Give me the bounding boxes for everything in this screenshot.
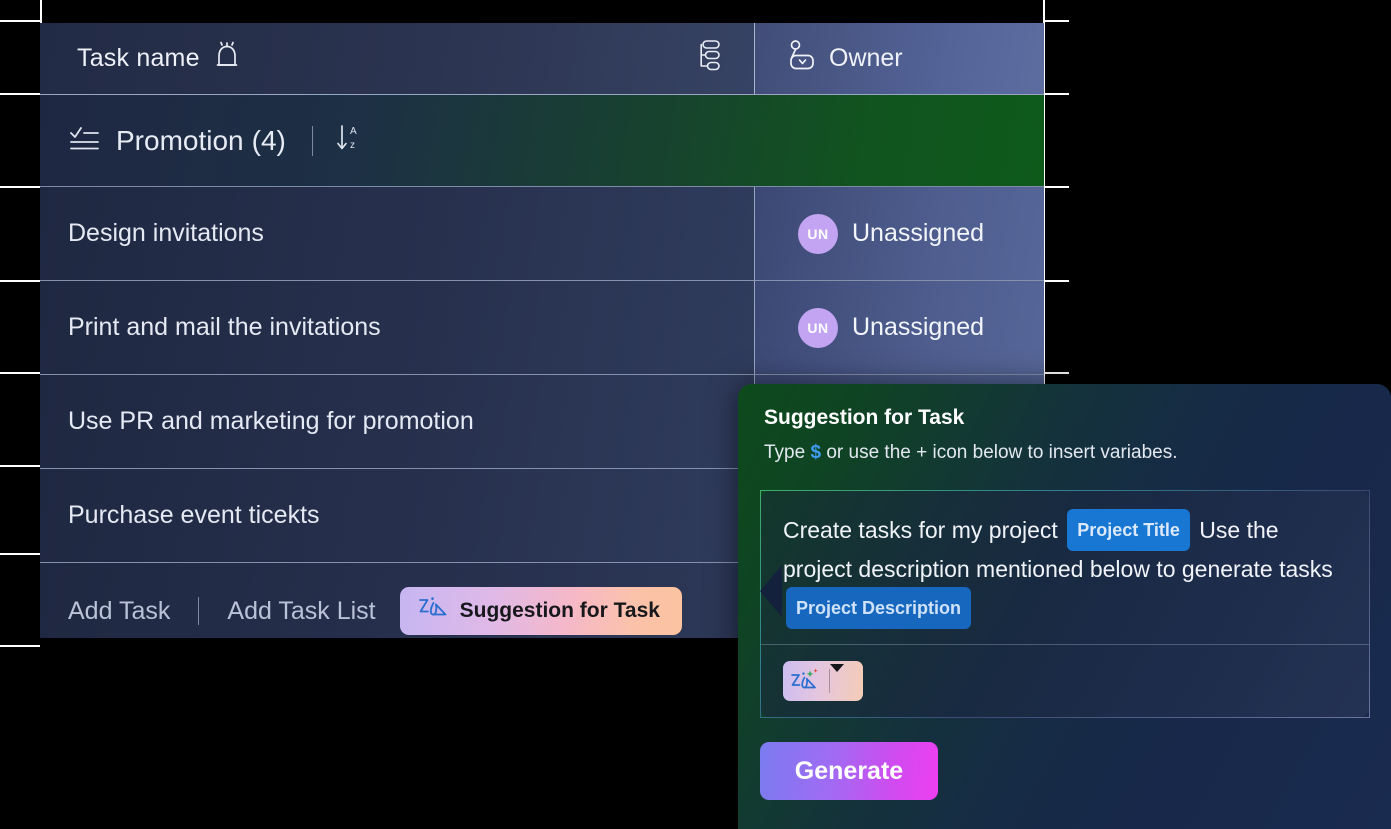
svg-text:z: z [350,140,355,151]
table-footer-actions: Add Task Add Task List Suggestion for Ta… [40,563,755,638]
task-group-row[interactable]: Promotion (4) A z [40,95,1044,187]
task-name-cell[interactable]: Design invitations [40,187,755,280]
grid-line-horizontal-left [0,20,42,22]
task-name-header-label: Task name [77,44,200,73]
prompt-editor[interactable]: Create tasks for my project Project Titl… [760,490,1370,718]
zia-sparkle-icon [783,668,829,694]
task-name-cell[interactable]: Use PR and marketing for promotion [40,375,755,468]
panel-pointer-notch [738,565,782,617]
owner-name-text: Unassigned [852,313,984,342]
task-name-column-header[interactable]: Task name [40,23,755,94]
sort-a-z-icon[interactable]: A z [335,123,365,158]
variable-chip-project-title[interactable]: Project Title [1067,509,1190,551]
grid-line-horizontal-left [0,645,42,647]
screenshot-root: Task name [0,0,1391,829]
task-name-text: Design invitations [68,219,264,248]
footer-divider [198,597,199,625]
task-name-cell[interactable]: Purchase event ticekts [40,469,755,562]
grid-line-horizontal-right [1043,186,1069,188]
task-name-text: Print and mail the invitations [68,313,381,342]
grid-line-horizontal-right [1043,93,1069,95]
panel-title: Suggestion for Task [764,406,1391,430]
grid-line-horizontal-right [1043,280,1069,282]
task-group-name: Promotion [116,125,244,157]
prompt-text-segment-1: Create tasks for my project [783,517,1058,543]
panel-hint: Type $ or use the + icon below to insert… [764,442,1391,464]
grid-line-horizontal-left [0,93,42,95]
panel-hint-prefix: Type [764,442,810,463]
suggestion-for-task-label: Suggestion for Task [460,599,660,623]
task-name-text: Use PR and marketing for promotion [68,407,474,436]
chevron-down-icon[interactable] [830,672,863,690]
variable-chip-project-description[interactable]: Project Description [786,587,971,629]
prompt-editor-content[interactable]: Create tasks for my project Project Titl… [761,491,1369,629]
task-group-count: (4) [252,125,286,157]
grid-line-horizontal-left [0,186,42,188]
owner-cell[interactable]: UN Unassigned [755,187,1044,280]
avatar: UN [798,214,838,254]
owner-cell[interactable]: UN Unassigned [755,281,1044,374]
panel-hint-dollar-token: $ [810,442,821,463]
table-row[interactable]: Print and mail the invitations UN Unassi… [40,281,1044,375]
task-name-text: Purchase event ticekts [68,501,320,530]
grid-line-horizontal-right [1043,372,1069,374]
checklist-icon[interactable] [70,125,100,156]
grid-line-horizontal-right [1043,20,1069,22]
panel-hint-suffix: or use the + icon below to insert variab… [821,442,1177,463]
generate-button[interactable]: Generate [760,742,938,800]
owner-column-header[interactable]: Owner [755,23,1044,94]
grid-line-horizontal-left [0,372,42,374]
suggestion-for-task-button[interactable]: Suggestion for Task [400,587,682,635]
editor-toolbar-divider [761,644,1369,645]
hierarchy-list-icon[interactable] [698,39,724,78]
svg-text:A: A [350,126,357,137]
add-task-list-button[interactable]: Add Task List [227,597,375,626]
person-dropdown-icon [783,40,817,77]
add-task-button[interactable]: Add Task [68,597,170,626]
owner-header-label: Owner [829,44,903,73]
group-divider [312,126,313,156]
zia-insert-variable-button[interactable] [783,661,863,701]
task-group-left: Promotion (4) A z [40,123,755,158]
table-header-row: Task name [40,23,1044,95]
zia-ai-icon [418,596,448,626]
alarm-bell-icon [214,41,240,76]
avatar: UN [798,308,838,348]
grid-line-horizontal-left [0,465,42,467]
table-row[interactable]: Design invitations UN Unassigned [40,187,1044,281]
owner-name-text: Unassigned [852,219,984,248]
task-name-cell[interactable]: Print and mail the invitations [40,281,755,374]
grid-line-horizontal-left [0,553,42,555]
grid-line-horizontal-left [0,280,42,282]
